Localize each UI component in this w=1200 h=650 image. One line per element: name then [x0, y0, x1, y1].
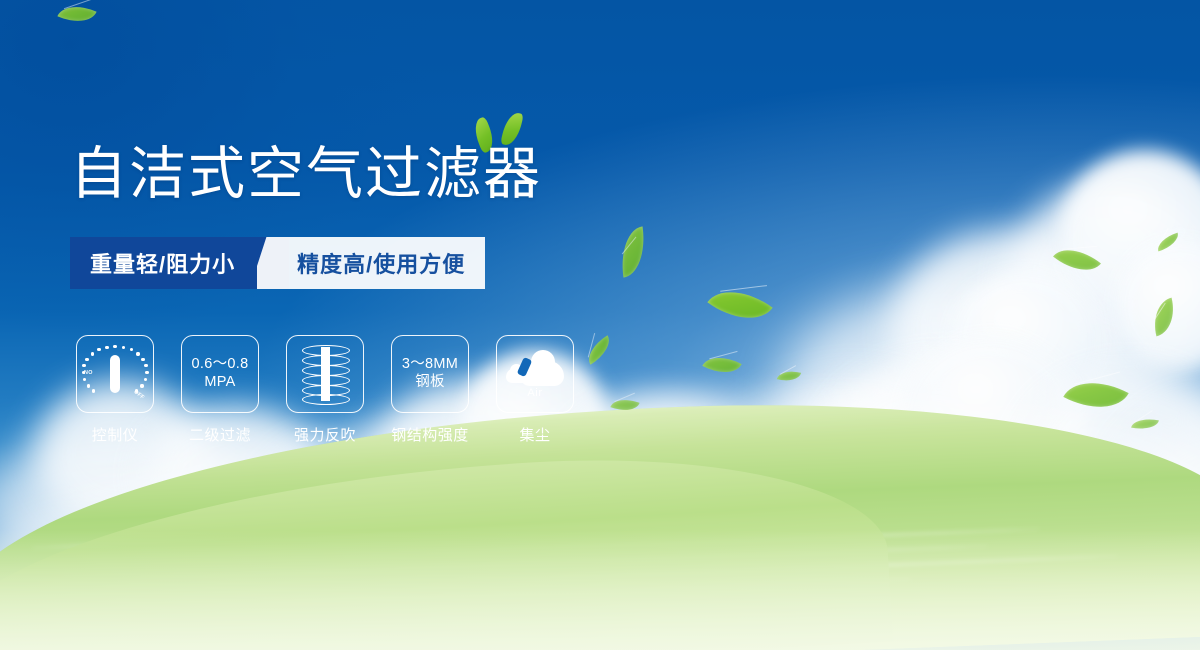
- dial-label-off: OFF: [133, 389, 146, 401]
- feature-icon-box: 0.6〜0.8 MPA: [181, 335, 259, 413]
- steel-plate-text-icon-line2: 钢板: [415, 374, 445, 392]
- feature-item-dust-collection[interactable]: Air 集尘: [496, 335, 574, 445]
- subtitle-left-text: 重量轻/阻力小: [70, 237, 257, 289]
- feature-caption: 控制仪: [92, 424, 139, 445]
- air-label: Air: [527, 387, 542, 399]
- pressure-text-icon-line1: 0.6〜0.8: [192, 356, 249, 374]
- steel-plate-text-icon-line1: 3〜8MM: [402, 356, 458, 374]
- feature-caption: 钢结构强度: [391, 424, 469, 445]
- feature-item-steel-plate[interactable]: 3〜8MM 钢板 钢结构强度: [391, 335, 469, 445]
- feature-item-pressure[interactable]: 0.6〜0.8 MPA 二级过滤: [181, 335, 259, 445]
- subtitle-bar: 重量轻/阻力小 精度高/使用方便: [70, 237, 485, 289]
- pressure-text-icon-line2: MPA: [204, 374, 235, 392]
- feature-icon-box: Air: [496, 335, 574, 413]
- subtitle-right-text: 精度高/使用方便: [289, 237, 485, 289]
- air-cloud-icon: [506, 350, 564, 386]
- feature-caption: 集尘: [519, 424, 550, 445]
- product-banner: 自洁式空气过滤器 重量轻/阻力小 精度高/使用方便: [0, 0, 1200, 650]
- control-dial-icon: NO OFF: [85, 344, 145, 404]
- feature-list: NO OFF 控制仪 0.6〜0.8 MPA 二级过滤: [76, 335, 574, 445]
- feature-caption: 二级过滤: [189, 424, 251, 445]
- feature-item-control-dial[interactable]: NO OFF 控制仪: [76, 335, 154, 445]
- dial-label-on: NO: [84, 370, 93, 376]
- page-title: 自洁式空气过滤器: [70, 143, 542, 206]
- feature-icon-box: NO OFF: [76, 335, 154, 413]
- feature-icon-box: [286, 335, 364, 413]
- subtitle-diagonal-divider: [257, 237, 289, 289]
- feature-caption: 强力反吹: [294, 424, 356, 445]
- feature-item-blowback[interactable]: 强力反吹: [286, 335, 364, 445]
- coil-blowback-icon: [302, 345, 348, 403]
- feature-icon-box: 3〜8MM 钢板: [391, 335, 469, 413]
